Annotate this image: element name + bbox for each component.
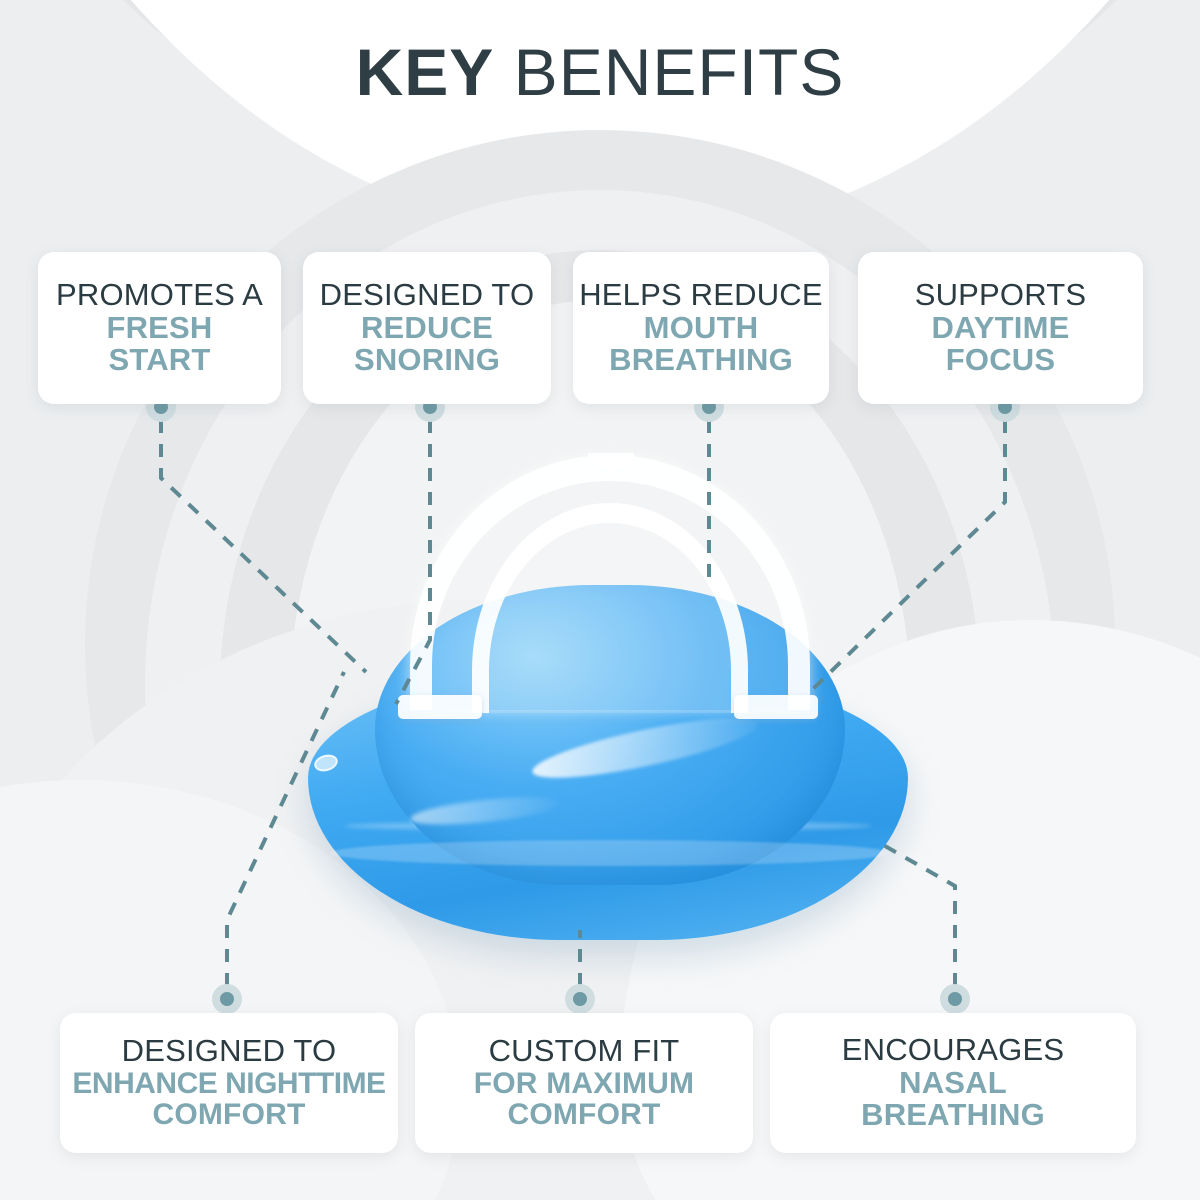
connector-dots-group bbox=[146, 392, 1020, 1014]
connector-path-nighttime-comfort bbox=[227, 672, 344, 986]
benefit-card-0-line-dark: PROMOTES A bbox=[56, 279, 263, 312]
connector-dot-maximum-comfort bbox=[565, 984, 595, 1014]
benefit-card-daytime-focus[interactable]: SUPPORTS DAYTIME FOCUS bbox=[858, 252, 1143, 404]
benefit-card-3-line-accent-1: DAYTIME bbox=[931, 312, 1069, 345]
benefit-card-fresh-start[interactable]: PROMOTES A FRESH START bbox=[38, 252, 281, 404]
connector-path-nasal-breathing bbox=[878, 842, 955, 986]
benefit-card-4-line-accent-2: COMFORT bbox=[152, 1099, 305, 1131]
benefit-card-1-line-accent-2: SNORING bbox=[354, 344, 500, 377]
benefit-card-6-line-accent-2: BREATHING bbox=[861, 1099, 1045, 1132]
benefit-card-6-line-dark: ENCOURAGES bbox=[842, 1034, 1064, 1067]
benefit-card-0-line-accent-2: START bbox=[108, 344, 210, 377]
benefit-card-nasal-breathing[interactable]: ENCOURAGES NASAL BREATHING bbox=[770, 1013, 1136, 1153]
benefit-card-nighttime-comfort[interactable]: DESIGNED TO ENHANCE NIGHTTIME COMFORT bbox=[60, 1013, 398, 1153]
benefit-card-4-line-dark: DESIGNED TO bbox=[122, 1035, 337, 1068]
connector-dot-nasal-breathing bbox=[940, 984, 970, 1014]
benefit-card-3-line-dark: SUPPORTS bbox=[915, 279, 1087, 312]
benefit-card-1-line-accent-1: REDUCE bbox=[361, 312, 493, 345]
benefit-card-2-line-accent-2: BREATHING bbox=[609, 344, 793, 377]
benefit-card-maximum-comfort[interactable]: CUSTOM FIT FOR MAXIMUM COMFORT bbox=[415, 1013, 753, 1153]
connector-path-daytime-focus bbox=[812, 420, 1005, 690]
benefit-card-3-line-accent-2: FOCUS bbox=[946, 344, 1056, 377]
benefit-card-reduce-snoring[interactable]: DESIGNED TO REDUCE SNORING bbox=[303, 252, 551, 404]
connector-dot-nighttime-comfort bbox=[212, 984, 242, 1014]
benefit-card-5-line-accent-1: FOR MAXIMUM bbox=[474, 1068, 695, 1100]
benefit-card-0-line-accent-1: FRESH bbox=[106, 312, 212, 345]
benefit-card-mouth-breathing[interactable]: HELPS REDUCE MOUTH BREATHING bbox=[573, 252, 829, 404]
benefit-card-5-line-dark: CUSTOM FIT bbox=[489, 1035, 680, 1068]
infographic-canvas: KEY BENEFITS bbox=[0, 0, 1200, 1200]
connector-path-fresh-start bbox=[161, 420, 366, 672]
benefit-card-6-line-accent-1: NASAL bbox=[899, 1067, 1007, 1100]
benefit-card-2-line-dark: HELPS REDUCE bbox=[579, 279, 823, 312]
benefit-card-1-line-dark: DESIGNED TO bbox=[320, 279, 535, 312]
benefit-card-4-line-accent-1: ENHANCE NIGHTTIME bbox=[72, 1068, 385, 1100]
benefit-card-5-line-accent-2: COMFORT bbox=[507, 1099, 660, 1131]
connector-path-reduce-snoring bbox=[396, 420, 430, 704]
benefit-card-2-line-accent-1: MOUTH bbox=[644, 312, 759, 345]
